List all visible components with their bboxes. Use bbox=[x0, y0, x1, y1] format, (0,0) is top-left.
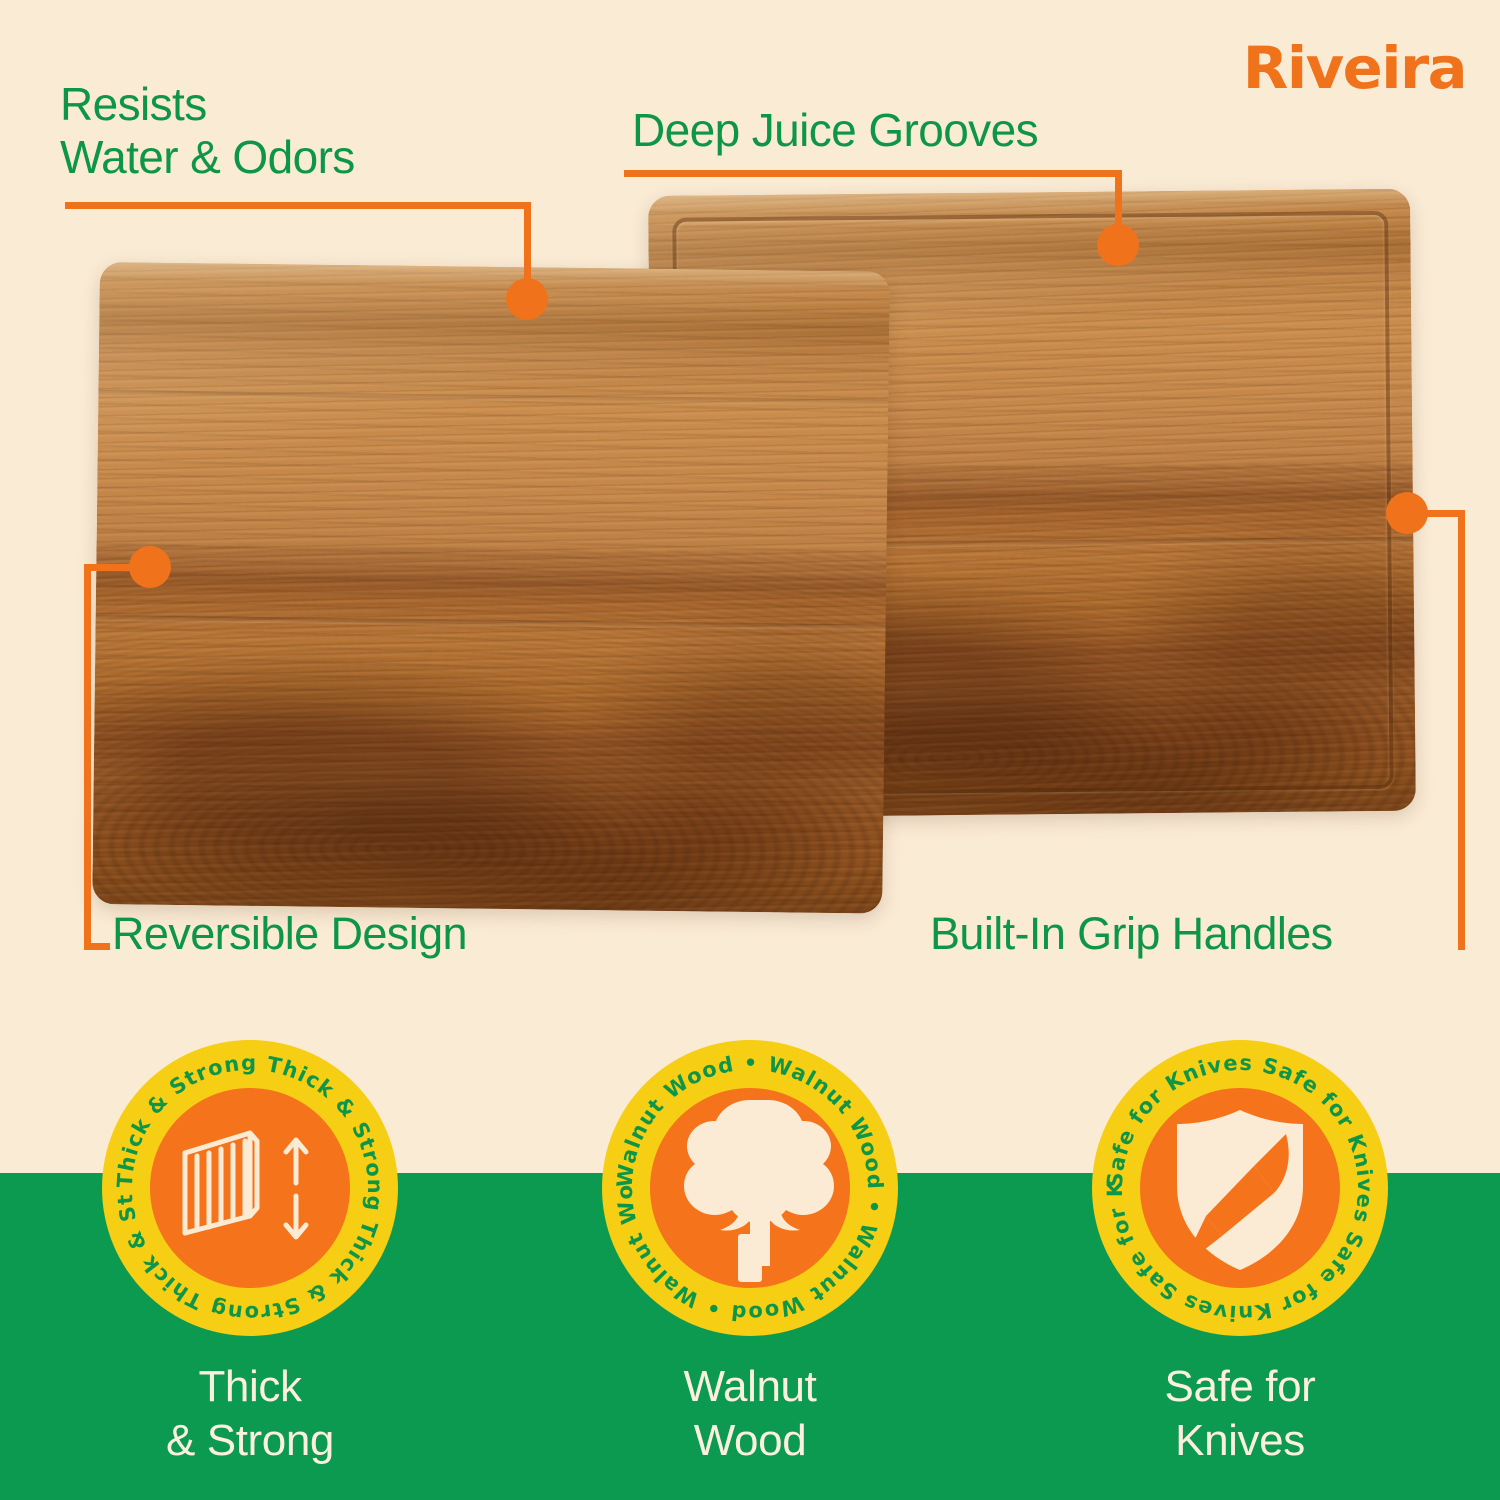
brand-logo: Riveira bbox=[1243, 34, 1466, 102]
badge-caption: Safe for Knives bbox=[1060, 1360, 1420, 1467]
callout-deep-juice-grooves: Deep Juice Grooves bbox=[632, 104, 1038, 157]
leader-line-horizontal bbox=[84, 943, 110, 950]
board-sheen bbox=[92, 262, 890, 914]
seal-graphic: Walnut Wood • Walnut Wood • Walnut Wood … bbox=[600, 1038, 900, 1338]
leader-line-horizontal bbox=[65, 202, 531, 209]
badge-walnut-wood: Walnut Wood • Walnut Wood • Walnut Wood … bbox=[570, 1038, 930, 1467]
badge-caption: Thick & Strong bbox=[70, 1360, 430, 1467]
leader-line-horizontal bbox=[84, 564, 142, 571]
leader-dot bbox=[1097, 224, 1139, 266]
seal-safe-for-knives: Safe for Knives Safe for Knives Safe for… bbox=[1090, 1038, 1390, 1338]
seal-graphic: Safe for Knives Safe for Knives Safe for… bbox=[1090, 1038, 1390, 1338]
badge-thick-strong: Thick & Strong Thick & Strong Thick & St… bbox=[70, 1038, 430, 1467]
infographic-canvas: Riveira Resists Water & Odors Deep Juice… bbox=[0, 0, 1500, 1500]
leader-dot bbox=[506, 278, 548, 320]
seal-graphic: Thick & Strong Thick & Strong Thick & St… bbox=[100, 1038, 400, 1338]
callout-built-in-grip-handles: Built-In Grip Handles bbox=[930, 908, 1333, 960]
seal-walnut-wood: Walnut Wood • Walnut Wood • Walnut Wood … bbox=[600, 1038, 900, 1338]
leader-line-vertical bbox=[84, 564, 91, 950]
front-cutting-board bbox=[92, 262, 890, 914]
callout-resists-water-odors: Resists Water & Odors bbox=[60, 78, 355, 185]
callout-reversible-design: Reversible Design bbox=[112, 908, 467, 960]
leader-line-horizontal bbox=[624, 170, 1122, 177]
badge-safe-for-knives: Safe for Knives Safe for Knives Safe for… bbox=[1060, 1038, 1420, 1467]
feature-badge-row: Thick & Strong Thick & Strong Thick & St… bbox=[0, 1038, 1500, 1398]
badge-caption: Walnut Wood bbox=[570, 1360, 930, 1467]
leader-line-vertical bbox=[1458, 510, 1465, 950]
seal-thick-strong: Thick & Strong Thick & Strong Thick & St… bbox=[100, 1038, 400, 1338]
